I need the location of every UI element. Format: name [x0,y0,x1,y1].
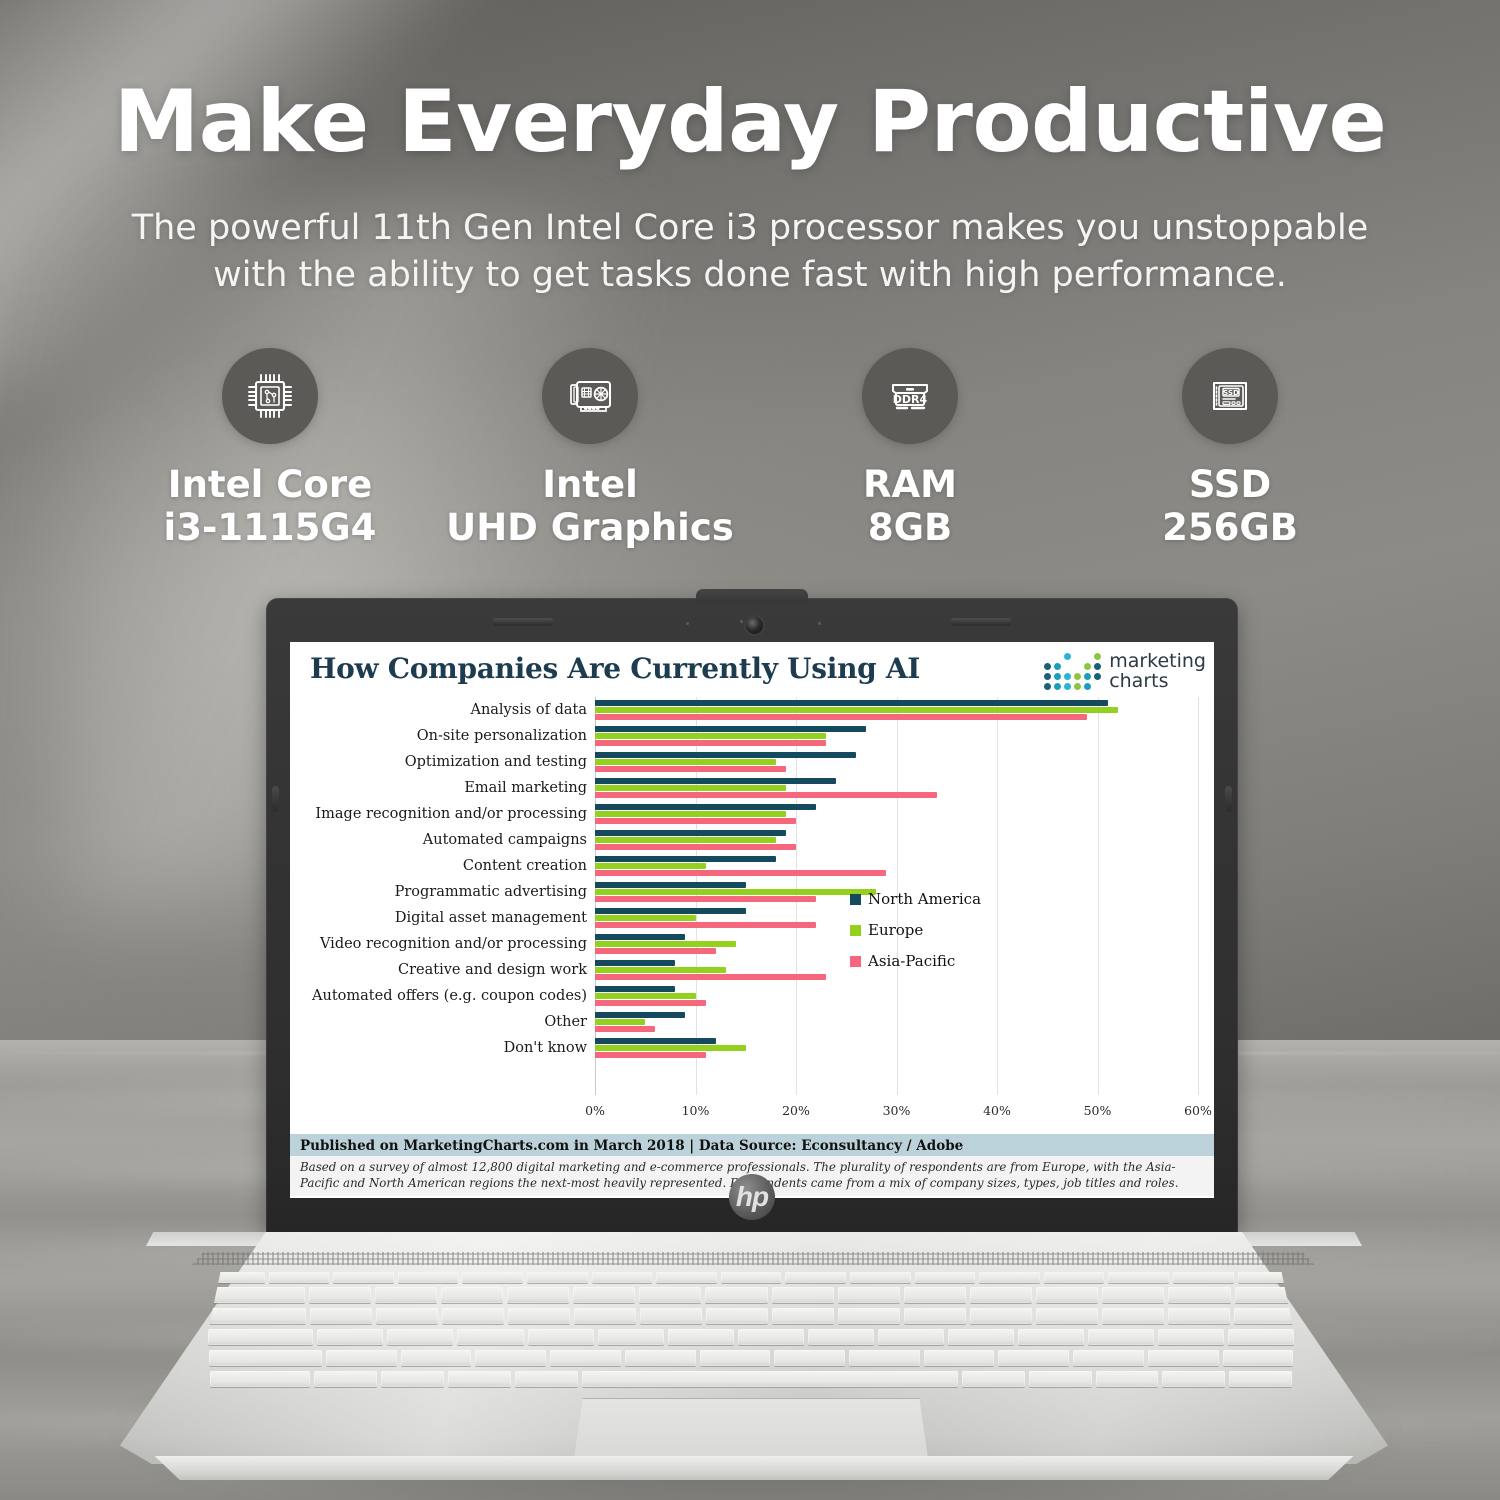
category-label-row: Analysis of data [290,697,595,723]
keyboard-key[interactable] [209,1350,322,1366]
legend-label: Europe [868,921,923,939]
keyboard-key[interactable] [475,1350,546,1366]
keyboard-key[interactable] [375,1287,437,1303]
value-axis: 0%10%20%30%40%50%60% [595,1103,1198,1123]
keyboard-key[interactable] [1044,1272,1105,1283]
chart-bar [595,811,786,817]
chart-bar [595,967,726,973]
keyboard-key[interactable] [962,1371,1025,1387]
chart-bar [595,766,786,772]
keyboard-key[interactable] [656,1272,717,1283]
chart-bar [595,785,786,791]
keyboard-key[interactable] [574,1308,636,1324]
legend-swatch [850,925,861,936]
category-label-row: Content creation [290,853,595,879]
category-label-row: Digital asset management [290,905,595,931]
keyboard-key[interactable] [508,1308,570,1324]
chart-bar [595,759,776,765]
keyboard-key[interactable] [1168,1287,1230,1303]
keyboard-key[interactable] [700,1350,771,1366]
keyboard-key[interactable] [401,1350,472,1366]
category-axis: Analysis of dataOn-site personalizationO… [290,697,595,1061]
chart-bar [595,714,1087,720]
keyboard-key[interactable] [448,1371,511,1387]
keyboard-key[interactable] [269,1272,330,1283]
keyboard-key[interactable] [878,1329,944,1345]
category-label-row: Automated campaigns [290,827,595,853]
keyboard-key[interactable] [904,1287,966,1303]
keyboard-key[interactable] [457,1329,523,1345]
keyboard-key[interactable] [1162,1371,1225,1387]
keyboard-key[interactable] [774,1350,845,1366]
category-label: Creative and design work [398,962,587,978]
chart-bar [595,974,826,980]
chart-bar [595,960,675,966]
legend-swatch [850,894,861,905]
product-banner: Make Everyday Productive The powerful 11… [0,0,1500,1500]
chart-bar [595,863,706,869]
keyboard-key[interactable] [785,1272,846,1283]
chart-bar [595,948,716,954]
category-label-row: Don't know [290,1035,595,1061]
keyboard-key[interactable] [310,1308,372,1324]
x-axis-tick-label: 40% [983,1103,1011,1118]
chart-bar [595,1052,706,1058]
laptop-keyboard [196,1272,1306,1390]
keyboard-key[interactable] [326,1350,397,1366]
chart-bar [595,915,696,921]
chart-bar [595,993,696,999]
keyboard-key[interactable] [598,1329,664,1345]
keyboard-key[interactable] [640,1308,702,1324]
logo-dot-grid [1044,653,1101,690]
category-label: Analysis of data [470,702,587,718]
keyboard-key[interactable] [1096,1371,1159,1387]
category-label: Optimization and testing [405,754,587,770]
category-label-row: Programmatic advertising [290,879,595,905]
keyboard-key[interactable] [1102,1308,1164,1324]
keyboard-key[interactable] [1029,1371,1092,1387]
keyboard-key[interactable] [979,1272,1040,1283]
keyboard-key[interactable] [333,1272,394,1283]
keyboard-key[interactable] [317,1329,383,1345]
keyboard-key[interactable] [772,1287,834,1303]
category-label-row: Creative and design work [290,957,595,983]
chart-bar [595,986,675,992]
category-label-row: Automated offers (e.g. coupon codes) [290,983,595,1009]
keyboard-key[interactable] [206,1308,305,1324]
keyboard-key[interactable] [205,1287,304,1303]
legend-item[interactable]: Asia-Pacific [850,952,981,970]
logo-wordmark: marketing charts [1109,652,1206,692]
chart-bar-group [595,697,1198,723]
chart-bar-group [595,801,1198,827]
chart-title: How Companies Are Currently Using AI [310,652,920,685]
chart-bar [595,889,876,895]
legend-label: Asia-Pacific [868,952,955,970]
keyboard-key[interactable] [970,1308,1032,1324]
chart-bar [595,1012,685,1018]
keyboard-key[interactable] [387,1329,453,1345]
laptop-speaker-vent [192,1252,1314,1265]
keyboard-key[interactable] [970,1287,1032,1303]
lid-hinge-left [272,786,279,812]
chart-plot-area: Analysis of dataOn-site personalizationO… [290,697,1214,1137]
category-label: Image recognition and/or processing [315,806,587,822]
keyboard-key[interactable] [1223,1350,1294,1366]
category-label: Other [544,1014,587,1030]
x-axis-tick-label: 10% [682,1103,710,1118]
x-axis-tick-label: 60% [1184,1103,1212,1118]
chart-bar [595,830,786,836]
keyboard-key[interactable] [838,1287,900,1303]
keyboard-key[interactable] [1168,1308,1230,1324]
keyboard-key[interactable] [625,1350,696,1366]
chart-bar [595,1026,655,1032]
chart-bar [595,752,856,758]
keyboard-key[interactable] [838,1308,900,1324]
category-label: Email marketing [464,780,587,796]
chart-bar-group [595,853,1198,879]
keyboard-key[interactable] [1238,1272,1299,1283]
category-label: Automated campaigns [423,832,587,848]
laptop-base-front-edge [123,1456,1385,1480]
category-label-row: Email marketing [290,775,595,801]
chart-bar [595,1045,746,1051]
chart-bar [595,870,886,876]
chart-source-bar: Published on MarketingCharts.com in Marc… [290,1134,1214,1158]
webcam-icon [744,615,765,636]
chart-container: How Companies Are Currently Using AI mar… [290,642,1214,1198]
keyboard-key[interactable] [462,1272,523,1283]
chart-bar [595,818,796,824]
chart-bar [595,726,866,732]
keyboard-key[interactable] [208,1329,314,1345]
chart-bar [595,856,776,862]
keyboard-key[interactable] [582,1371,959,1387]
legend-label: North America [868,890,981,908]
keyboard-key[interactable] [1234,1308,1296,1324]
chart-bar [595,740,826,746]
chart-bar [595,922,816,928]
category-label: On-site personalization [417,728,587,744]
chart-bar-group [595,749,1198,775]
keyboard-key[interactable] [808,1329,874,1345]
hp-brand-logo: hp [729,1174,775,1220]
keyboard-key[interactable] [998,1350,1069,1366]
keyboard-key[interactable] [441,1287,503,1303]
keyboard-key[interactable] [376,1308,438,1324]
keyboard-key[interactable] [210,1371,310,1387]
chart-bar [595,707,1118,713]
keyboard-key[interactable] [527,1272,588,1283]
keyboard-key[interactable] [1148,1350,1219,1366]
webcam-hump [696,589,808,603]
keyboard-key[interactable] [1036,1287,1098,1303]
keyboard-key[interactable] [398,1272,459,1283]
keyboard-key[interactable] [507,1287,569,1303]
keyboard-key[interactable] [442,1308,504,1324]
keyboard-key[interactable] [381,1371,444,1387]
chart-bar-group [595,1035,1198,1061]
chart-bar [595,804,816,810]
chart-bar-group [595,983,1198,1009]
x-axis-tick-label: 20% [782,1103,810,1118]
keyboard-key[interactable] [721,1272,782,1283]
keyboard-key[interactable] [1235,1287,1297,1303]
laptop-screen: How Companies Are Currently Using AI mar… [290,642,1214,1198]
keyboard-key[interactable] [1228,1329,1294,1345]
keyboard-key[interactable] [668,1329,734,1345]
chart-bar-group [595,775,1198,801]
chart-bar-group [595,827,1198,853]
chart-bar [595,896,816,902]
legend-swatch [850,956,861,967]
chart-bar [595,792,937,798]
x-axis-tick-label: 50% [1084,1103,1112,1118]
keyboard-key[interactable] [849,1350,920,1366]
keyboard-key[interactable] [738,1329,804,1345]
chart-bar [595,1038,716,1044]
category-label: Don't know [504,1040,587,1056]
keyboard-key[interactable] [1036,1308,1098,1324]
keyboard-key[interactable] [948,1329,1014,1345]
chart-bar [595,700,1108,706]
keyboard-key[interactable] [1158,1329,1224,1345]
keyboard-key[interactable] [1073,1350,1144,1366]
keyboard-key[interactable] [528,1329,594,1345]
chart-bar-group [595,1009,1198,1035]
keyboard-key[interactable] [550,1350,621,1366]
keyboard-key[interactable] [1102,1287,1164,1303]
category-label: Digital asset management [395,910,587,926]
keyboard-key[interactable] [573,1287,635,1303]
category-label: Automated offers (e.g. coupon codes) [312,988,587,1004]
legend-item[interactable]: Europe [850,921,981,939]
keyboard-key[interactable] [772,1308,834,1324]
category-label-row: Other [290,1009,595,1035]
keyboard-key[interactable] [1229,1371,1292,1387]
keyboard-key[interactable] [705,1287,767,1303]
category-label-row: On-site personalization [290,723,595,749]
category-label-row: Optimization and testing [290,749,595,775]
category-label: Content creation [463,858,587,874]
chart-bar [595,844,796,850]
chart-bar-group [595,723,1198,749]
keyboard-key[interactable] [915,1272,976,1283]
chart-bar [595,733,826,739]
x-axis-tick-label: 0% [585,1103,605,1118]
keyboard-key[interactable] [1018,1329,1084,1345]
chart-bar [595,934,685,940]
keyboard-key[interactable] [204,1272,265,1283]
chart-bar [595,778,836,784]
keyboard-key[interactable] [592,1272,653,1283]
keyboard-key[interactable] [1108,1272,1169,1283]
category-label-row: Video recognition and/or processing [290,931,595,957]
chart-bar [595,882,746,888]
marketing-charts-logo: marketing charts [1044,652,1206,692]
legend-item[interactable]: North America [850,890,981,908]
keyboard-key[interactable] [924,1350,995,1366]
chart-bar [595,941,736,947]
keyboard-key[interactable] [850,1272,911,1283]
keyboard-key[interactable] [1088,1329,1154,1345]
x-axis-tick-label: 30% [883,1103,911,1118]
keyboard-key[interactable] [904,1308,966,1324]
keyboard-key[interactable] [515,1371,578,1387]
keyboard-key[interactable] [639,1287,701,1303]
chart-legend: North AmericaEuropeAsia-Pacific [850,890,981,983]
keyboard-key[interactable] [314,1371,377,1387]
lid-hinge-right [1225,786,1232,812]
category-label: Programmatic advertising [395,884,587,900]
laptop-product-image: How Companies Are Currently Using AI mar… [0,0,1500,1500]
category-label-row: Image recognition and/or processing [290,801,595,827]
chart-bar [595,1000,706,1006]
keyboard-key[interactable] [1173,1272,1234,1283]
keyboard-key[interactable] [706,1308,768,1324]
keyboard-key[interactable] [309,1287,371,1303]
category-label: Video recognition and/or processing [320,936,587,952]
chart-bar [595,837,776,843]
laptop-lid: How Companies Are Currently Using AI mar… [266,598,1238,1236]
chart-bar [595,1019,645,1025]
chart-bar [595,908,746,914]
